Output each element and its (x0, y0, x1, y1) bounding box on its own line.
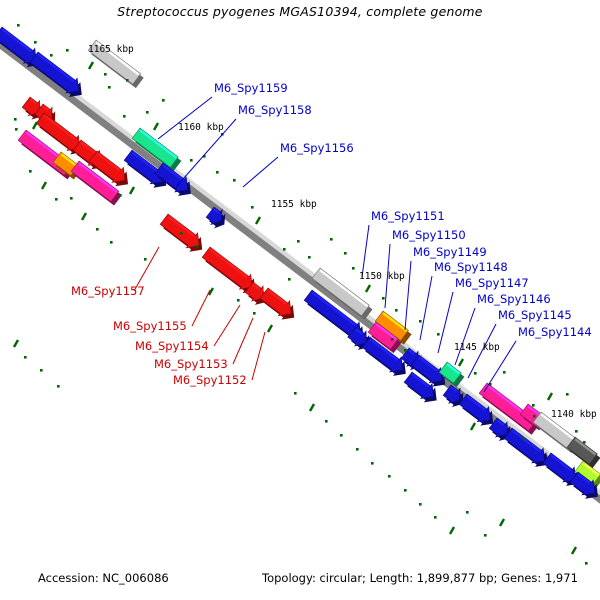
gene-label[interactable]: M6_Spy1159 (214, 81, 288, 95)
scale-tick-label: 1155 kbp (271, 199, 317, 210)
gene-label-leader-line (420, 276, 432, 340)
rna-marker (503, 371, 506, 374)
rna-marker (391, 338, 394, 341)
rna-marker (585, 562, 588, 565)
rna-marker (42, 182, 46, 189)
rna-marker (325, 420, 328, 423)
rna-marker (130, 187, 134, 194)
rna-marker (548, 393, 552, 400)
rna-marker (500, 519, 504, 526)
rna-marker (33, 122, 37, 129)
rna-marker (268, 325, 272, 332)
rna-marker (119, 194, 122, 197)
gene-label[interactable]: M6_Spy1149 (413, 245, 487, 259)
rna-marker (126, 79, 129, 82)
rna-marker (253, 312, 256, 315)
gene-label[interactable]: M6_Spy1158 (238, 103, 312, 117)
rna-marker (404, 489, 407, 492)
gene-label[interactable]: M6_Spy1154 (135, 339, 209, 353)
rna-marker (294, 392, 297, 395)
scale-tick-label: 1150 kbp (359, 271, 405, 282)
rna-marker (371, 462, 374, 465)
rna-marker (154, 123, 158, 130)
rna-marker (575, 430, 578, 433)
rna-marker (344, 252, 347, 255)
rna-marker (471, 423, 475, 430)
rna-marker (110, 241, 113, 244)
rna-marker (566, 393, 569, 396)
scale-tick-label: 1165 kbp (88, 44, 134, 55)
gene-labels-group[interactable]: M6_Spy1159M6_Spy1158M6_Spy1156M6_Spy1157… (71, 81, 592, 387)
gene-label[interactable]: M6_Spy1153 (154, 357, 228, 371)
rna-marker (437, 333, 440, 336)
gene-label[interactable]: M6_Spy1146 (477, 292, 551, 306)
rna-marker (82, 213, 86, 220)
rna-marker (162, 99, 165, 102)
rna-marker (89, 62, 93, 69)
rna-marker (466, 511, 469, 514)
rna-marker (233, 179, 236, 182)
rna-marker (459, 359, 463, 366)
rna-marker (283, 248, 286, 251)
gene-label[interactable]: M6_Spy1151 (371, 209, 445, 223)
rna-marker (24, 356, 27, 359)
rna-marker (356, 448, 359, 451)
gene-label-leader-line (214, 305, 240, 346)
gene-label-leader-line (455, 308, 475, 365)
rna-marker (123, 115, 126, 118)
rna-marker (484, 534, 487, 537)
accession-text: Accession: NC_006086 (38, 571, 169, 585)
gene-label-leader-line (233, 318, 253, 364)
scale-tick-label: 1140 kbp (551, 409, 597, 420)
rna-marker (251, 206, 254, 209)
rna-marker (352, 267, 355, 270)
gene-label-leader-line (192, 290, 210, 326)
rna-marker (108, 86, 111, 89)
rna-marker (532, 404, 535, 407)
rna-marker (14, 340, 18, 347)
rna-marker (388, 475, 391, 478)
scale-tick-label: 1145 kbp (454, 342, 500, 353)
rna-marker (96, 228, 99, 231)
gene-label-leader-line (405, 261, 411, 330)
rna-marker (330, 238, 333, 241)
rna-marker (196, 245, 199, 248)
rna-marker (216, 171, 219, 174)
rna-marker (419, 503, 422, 506)
gene-label[interactable]: M6_Spy1147 (455, 276, 529, 290)
rna-marker (522, 437, 525, 440)
rna-marker (583, 441, 586, 444)
gene-label[interactable]: M6_Spy1157 (71, 284, 145, 298)
rna-marker (382, 297, 385, 300)
gene-label[interactable]: M6_Spy1155 (113, 319, 187, 333)
rna-marker (104, 73, 107, 76)
gene-feature[interactable] (206, 207, 225, 228)
gene-label[interactable]: M6_Spy1150 (392, 228, 466, 242)
gene-label[interactable]: M6_Spy1145 (498, 308, 572, 322)
rna-marker (50, 54, 53, 57)
rna-marker (29, 170, 32, 173)
rna-marker (340, 434, 343, 437)
rna-marker (57, 385, 60, 388)
gene-label[interactable]: M6_Spy1144 (518, 325, 592, 339)
rna-marker (366, 285, 370, 292)
rna-marker (310, 404, 314, 411)
gene-label-leader-line (438, 292, 453, 353)
rna-marker (395, 309, 398, 312)
gene-feature[interactable] (260, 288, 294, 320)
rna-marker (34, 41, 37, 44)
rna-marker (474, 372, 477, 375)
rna-marker (66, 49, 69, 52)
rna-marker (146, 111, 149, 114)
rna-marker (15, 128, 18, 131)
rna-marker (190, 159, 193, 162)
rna-marker (434, 516, 437, 519)
gene-label[interactable]: M6_Spy1148 (434, 260, 508, 274)
rna-marker (404, 349, 407, 352)
gene-label[interactable]: M6_Spy1156 (280, 141, 354, 155)
gene-label-leader-line (362, 225, 369, 277)
genome-map-canvas[interactable]: 1165 kbp1160 kbp1155 kbp1150 kbp1145 kbp… (0, 0, 600, 600)
rna-marker (288, 278, 291, 281)
gene-label[interactable]: M6_Spy1152 (173, 373, 247, 387)
rna-marker (70, 197, 73, 200)
rna-marker (572, 547, 576, 554)
rna-marker (308, 256, 311, 259)
genome-viewer: Streptococcus pyogenes MGAS10394, comple… (0, 0, 600, 600)
gene-label-leader-line (243, 157, 278, 187)
genome-summary-text: Topology: circular; Length: 1,899,877 bp… (262, 571, 578, 585)
rna-marker (297, 240, 300, 243)
gene-label-leader-line (252, 332, 265, 380)
rna-marker (55, 198, 58, 201)
rna-marker (533, 415, 536, 418)
rna-marker (14, 118, 17, 121)
scale-tick-label: 1160 kbp (178, 122, 224, 133)
rna-marker (256, 217, 260, 224)
rna-marker (237, 299, 240, 302)
rna-marker (40, 369, 43, 372)
rna-marker (419, 320, 422, 323)
rna-marker (17, 24, 20, 27)
rna-marker (180, 232, 183, 235)
rna-marker (144, 258, 147, 261)
gene-feature[interactable] (202, 247, 255, 293)
rna-marker (450, 527, 454, 534)
